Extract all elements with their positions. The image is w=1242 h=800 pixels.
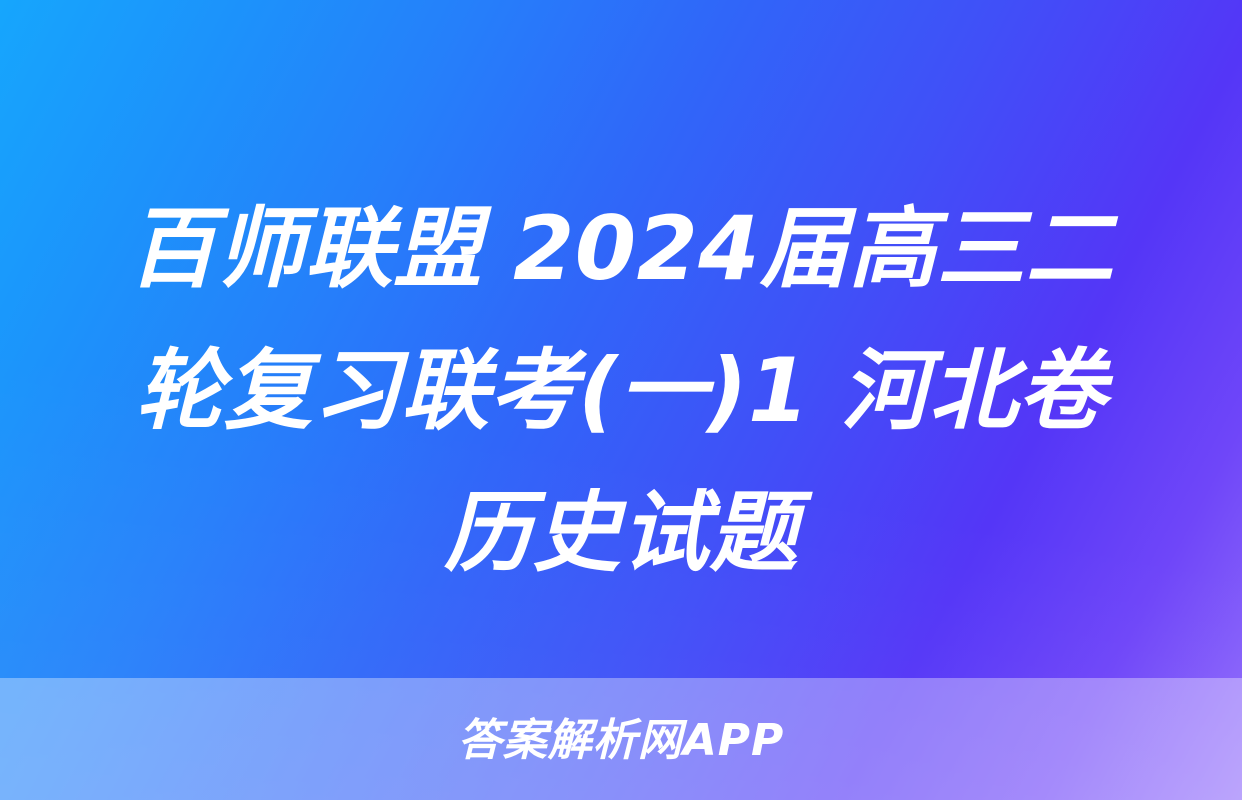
exam-cover-poster: 百师联盟 2024届高三二 轮复习联考(一)1 河北卷 历史试题 答案解析网AP… bbox=[0, 0, 1242, 800]
title-line-1: 百师联盟 2024届高三二 bbox=[52, 178, 1190, 320]
title-line-2: 轮复习联考(一)1 河北卷 bbox=[52, 320, 1190, 462]
app-watermark-label: 答案解析网APP bbox=[458, 719, 785, 763]
poster-title: 百师联盟 2024届高三二 轮复习联考(一)1 河北卷 历史试题 bbox=[0, 178, 1242, 604]
title-line-3: 历史试题 bbox=[52, 462, 1190, 604]
footer-watermark-band: 答案解析网APP bbox=[0, 678, 1242, 800]
